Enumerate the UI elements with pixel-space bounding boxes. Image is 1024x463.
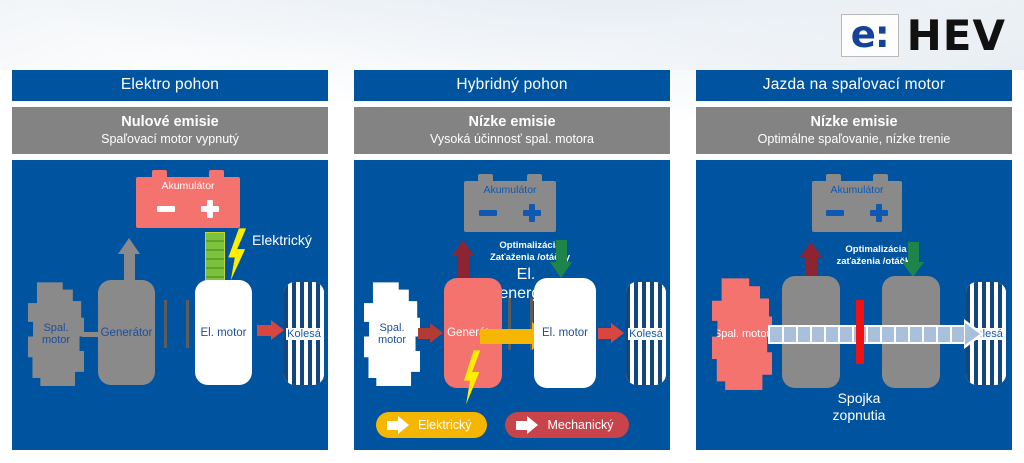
engine-label: Spal. motor xyxy=(364,322,420,347)
battery-tabs xyxy=(812,174,902,181)
arrow-right-red-engine-generator xyxy=(418,323,443,343)
generator-label: Generátor xyxy=(101,327,153,339)
logo-e-text: e: xyxy=(851,13,889,56)
clutch-line-2: zopnutia xyxy=(800,407,918,424)
panel-hybrid-title: Hybridný pohon xyxy=(354,70,670,101)
battery-tabs xyxy=(136,170,240,177)
plus-icon xyxy=(201,200,219,218)
arrow-right-icon xyxy=(516,416,538,434)
arrow-right-icon xyxy=(387,416,409,434)
panel-engine-drive-emission: Nízke emisie Optimálne spaľovanie, nízke… xyxy=(696,107,1012,154)
legend-item-mechanical: Mechanický xyxy=(505,412,629,438)
shaft-body xyxy=(768,325,964,344)
panel-engine-drive-title: Jazda na spaľovací motor xyxy=(696,70,1012,101)
engine-electro: Spal. motor xyxy=(28,282,84,386)
drive-shaft-arrow xyxy=(768,319,984,349)
wheels-label: Kolesá xyxy=(286,328,322,340)
battery-label: Akumulátor xyxy=(161,181,214,193)
battery-tab-right xyxy=(527,174,542,181)
battery-label: Akumulátor xyxy=(483,185,536,197)
engine-label: Spal. motor xyxy=(714,328,770,341)
legend-item-electric: Elektrický xyxy=(376,412,487,438)
clutch-engaged-red xyxy=(856,300,864,364)
battery-signs xyxy=(479,204,541,222)
clutch-line-1: Spojka xyxy=(800,390,918,407)
panel-electro-emission-sub: Spaľovací motor vypnutý xyxy=(12,131,328,147)
battery-electro: Akumulátor xyxy=(136,170,240,228)
battery-signs xyxy=(826,204,888,222)
motor-electro: El. motor xyxy=(195,280,252,385)
logo-hev-text: HEV xyxy=(907,15,1006,57)
minus-icon xyxy=(826,204,844,222)
battery-engine-drive: Akumulátor xyxy=(812,174,902,232)
plus-icon xyxy=(523,204,541,222)
panel-electro: Elektro pohon Nulové emisie Spaľovací mo… xyxy=(12,70,328,455)
legend-electric-label: Elektrický xyxy=(418,418,471,432)
panel-electro-title: Elektro pohon xyxy=(12,70,328,101)
panel-electro-diagram: Akumulátor Elektrický xyxy=(12,160,328,450)
battery-hybrid: Akumulátor xyxy=(464,174,556,232)
shaft-head xyxy=(964,319,984,349)
motor-label: El. motor xyxy=(200,327,246,339)
panel-engine-drive-emission-sub: Optimálne spaľovanie, nízke trenie xyxy=(696,131,1012,147)
battery-tab-right xyxy=(209,170,224,177)
label-elektricky-electro: Elektrický xyxy=(252,232,312,248)
battery-signs xyxy=(157,200,219,218)
motor-hybrid: El. motor xyxy=(534,278,596,388)
battery-tab-right xyxy=(873,174,888,181)
clutch-bar-right xyxy=(186,300,189,348)
panel-engine-drive-emission-heading: Nízke emisie xyxy=(696,113,1012,131)
arrow-up-gray-electro xyxy=(118,238,140,280)
battery-tab-left xyxy=(152,170,167,177)
battery-label: Akumulátor xyxy=(830,185,883,197)
minus-icon xyxy=(479,204,497,222)
panel-grid: Elektro pohon Nulové emisie Spaľovací mo… xyxy=(12,70,1012,455)
battery-body: Akumulátor xyxy=(464,181,556,232)
wheels-label: Kolesá xyxy=(628,328,664,340)
panel-hybrid-emission: Nízke emisie Vysoká účinnosť spal. motor… xyxy=(354,107,670,154)
arrow-up-darkred-engine-drive xyxy=(800,242,822,277)
minus-icon xyxy=(157,200,175,218)
arrow-up-darkred-hybrid xyxy=(452,240,474,278)
engine-label: Spal. motor xyxy=(28,322,84,347)
panel-electro-emission-heading: Nulové emisie xyxy=(12,113,328,131)
panel-hybrid-emission-sub: Vysoká účinnosť spal. motora xyxy=(354,131,670,147)
panel-hybrid-diagram: Akumulátor Optimalizácia Zaťaženia /otáč… xyxy=(354,160,670,450)
battery-body: Akumulátor xyxy=(812,181,902,232)
ehev-logo: e: HEV xyxy=(841,14,1006,57)
panel-engine-drive-diagram: Akumulátor Optimalizácia zaťaženia /otáč… xyxy=(696,160,1012,450)
motor-label: El. motor xyxy=(542,327,588,339)
legend-hybrid: Elektrický Mechanický xyxy=(376,412,629,438)
label-clutch: Spojka zopnutia xyxy=(800,390,918,424)
arrow-right-red-hybrid xyxy=(598,323,624,343)
legend-mechanical-label: Mechanický xyxy=(547,418,613,432)
wheels-hybrid: Kolesá xyxy=(626,282,666,385)
battery-tab-left xyxy=(826,174,841,181)
panel-electro-emission: Nulové emisie Spaľovací motor vypnutý xyxy=(12,107,328,154)
battery-body: Akumulátor xyxy=(136,177,240,228)
panel-hybrid: Hybridný pohon Nízke emisie Vysoká účinn… xyxy=(354,70,670,455)
arrow-right-red-electro xyxy=(257,320,284,340)
battery-tabs xyxy=(464,174,556,181)
engine-engine-drive: Spal. motor xyxy=(712,278,772,390)
arrow-down-green-engine-drive xyxy=(902,242,924,277)
clutch-bar-left xyxy=(164,300,167,348)
logo-e-badge: e: xyxy=(841,14,899,57)
panel-engine-drive: Jazda na spaľovací motor Nízke emisie Op… xyxy=(696,70,1012,455)
generator-electro: Generátor xyxy=(98,280,155,385)
panel-hybrid-emission-heading: Nízke emisie xyxy=(354,113,670,131)
battery-tab-left xyxy=(478,174,493,181)
wheels-electro: Kolesá xyxy=(284,282,324,385)
engine-hybrid: Spal. motor xyxy=(364,282,420,386)
plus-icon xyxy=(870,204,888,222)
